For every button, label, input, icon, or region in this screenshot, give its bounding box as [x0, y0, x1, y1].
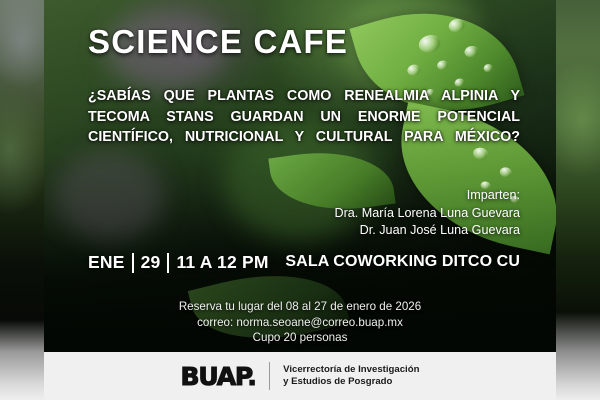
footer-department: Vicerrectoría de Investigación y Estudio…	[283, 364, 419, 389]
reservation-email: correo: norma.seoane@correo.buap.mx	[44, 315, 556, 331]
buap-logo: BUAP.	[181, 364, 256, 389]
footer-line-1: Vicerrectoría de Investigación	[283, 364, 419, 376]
left-blur-bar	[0, 0, 44, 400]
poster-text-layer: SCIENCE CAFE ¿SABÍAS QUE PLANTAS COMO RE…	[44, 0, 556, 400]
event-datetime: ENE 29 11 A 12 PM	[88, 252, 269, 273]
page-title: SCIENCE CAFE	[88, 23, 348, 61]
reservation-block: Reserva tu lugar del 08 al 27 de enero d…	[44, 299, 556, 346]
speakers-heading: Imparten:	[334, 187, 520, 205]
reservation-capacity: Cupo 20 personas	[44, 330, 556, 346]
science-cafe-poster: SCIENCE CAFE ¿SABÍAS QUE PLANTAS COMO RE…	[0, 0, 600, 400]
logo-divider	[269, 362, 270, 390]
footer-line-2: y Estudios de Posgrado	[283, 376, 419, 388]
speaker-name: Dra. María Lorena Luna Guevara	[334, 205, 520, 223]
reservation-dates: Reserva tu lugar del 08 al 27 de enero d…	[44, 299, 556, 315]
speaker-name: Dr. Juan José Luna Guevara	[334, 222, 520, 240]
speakers-block: Imparten: Dra. María Lorena Luna Guevara…	[334, 187, 520, 240]
datetime-separator	[167, 253, 169, 273]
question-text: ¿SABÍAS QUE PLANTAS COMO RENEALMIA ALPIN…	[88, 86, 520, 148]
event-month: ENE	[88, 252, 125, 273]
footer-bar: BUAP. Vicerrectoría de Investigación y E…	[44, 352, 556, 400]
event-venue: SALA COWORKING DITCO CU	[285, 253, 520, 271]
right-blur-bar	[556, 0, 600, 400]
footer-branding: BUAP. Vicerrectoría de Investigación y E…	[181, 362, 420, 390]
event-time: 11 A 12 PM	[176, 252, 268, 273]
datetime-separator	[132, 253, 134, 273]
event-day: 29	[141, 252, 161, 273]
